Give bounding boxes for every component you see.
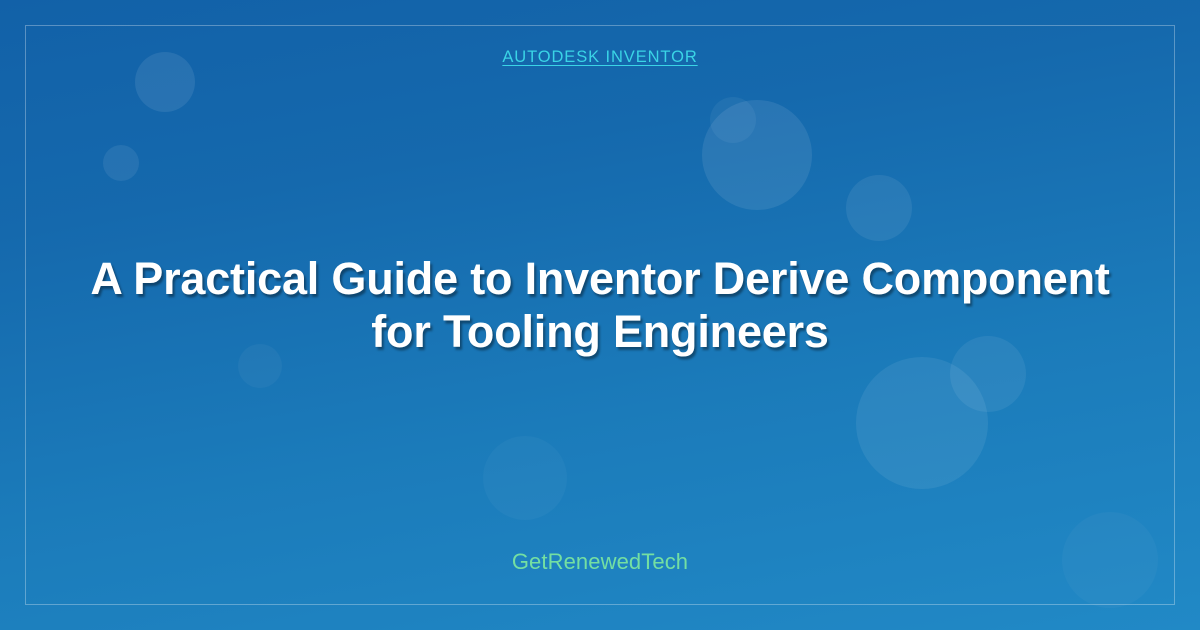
card-content: AUTODESK INVENTOR A Practical Guide to I… [25,25,1175,605]
page-title: A Practical Guide to Inventor Derive Com… [70,252,1130,358]
open-graph-card: AUTODESK INVENTOR A Practical Guide to I… [0,0,1200,630]
site-name-label: GetRenewedTech [512,549,688,575]
title-block: A Practical Guide to Inventor Derive Com… [65,61,1135,549]
